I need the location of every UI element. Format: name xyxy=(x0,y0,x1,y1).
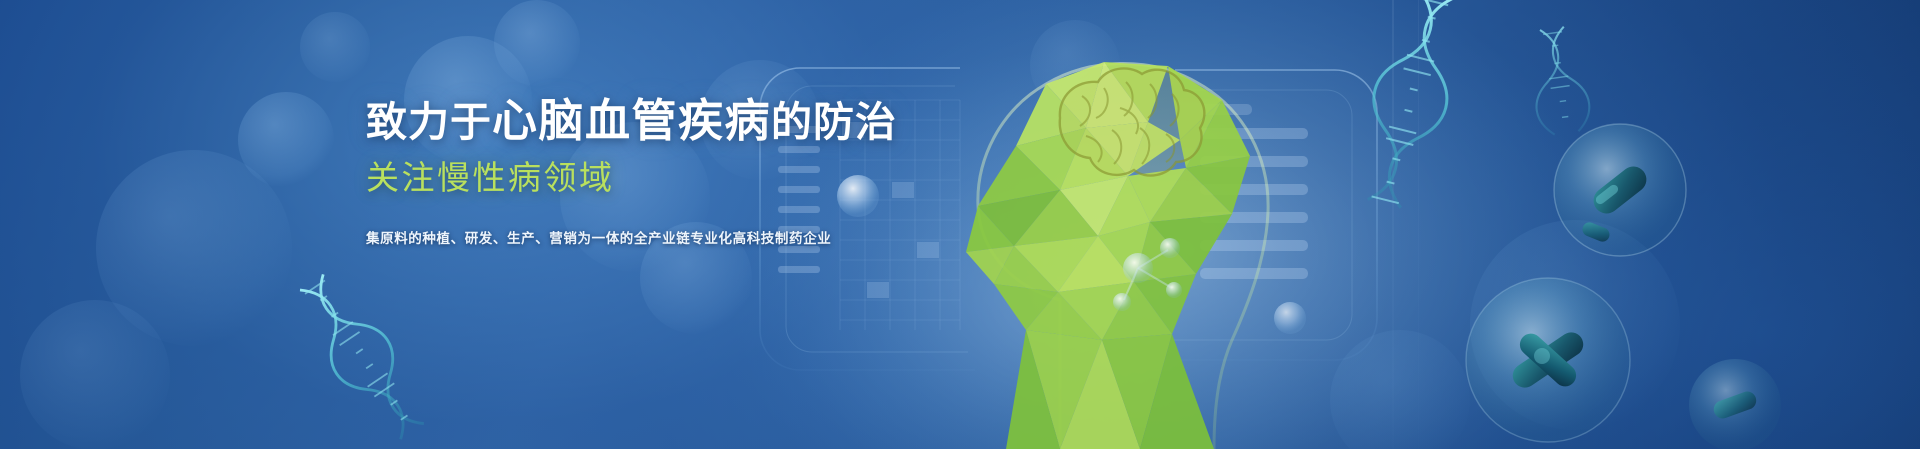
molecule-node-cluster xyxy=(1113,238,1182,311)
bacteria-cell-small xyxy=(1689,359,1781,449)
bokeh-circle xyxy=(300,12,370,82)
bacteria-cell-top-right xyxy=(1554,124,1686,256)
bokeh-circle xyxy=(1470,220,1680,430)
dna-helix-top-right xyxy=(1349,0,1472,213)
bacteria-cell-bottom-right xyxy=(1466,278,1630,442)
bokeh-circle xyxy=(96,150,292,346)
dna-helix-right xyxy=(1526,25,1593,137)
hero-tagline: 集原料的种植、研发、生产、营销为一体的全产业链专业化高科技制药企业 xyxy=(366,227,1126,247)
glow-orb xyxy=(1274,302,1306,334)
bokeh-circle xyxy=(1330,330,1470,449)
headline-prefix: 致力于 xyxy=(366,99,492,145)
hero-banner: 致力于心脑血管疾病的防治 关注慢性病领域 集原料的种植、研发、生产、营销为一体的… xyxy=(0,0,1920,449)
hero-copy: 致力于心脑血管疾病的防治 关注慢性病领域 集原料的种植、研发、生产、营销为一体的… xyxy=(366,96,1126,247)
hud-panel-right xyxy=(1168,70,1377,360)
bokeh-circle xyxy=(494,0,580,86)
bokeh-circle xyxy=(238,92,334,188)
hero-subline: 关注慢性病领域 xyxy=(366,159,1126,197)
bokeh-circle xyxy=(20,300,170,449)
dna-helix-left xyxy=(286,265,437,448)
hero-headline: 致力于心脑血管疾病的防治 xyxy=(366,96,1126,146)
headline-emphasis: 心脑血管疾病 xyxy=(492,95,771,146)
headline-suffix: 的防治 xyxy=(771,99,897,145)
